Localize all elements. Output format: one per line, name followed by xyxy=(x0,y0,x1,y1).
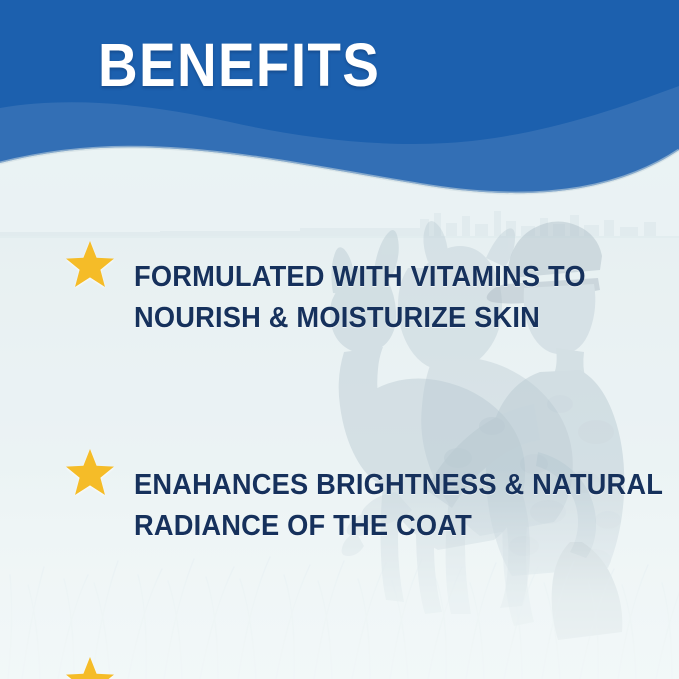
benefits-poster: BENEFITS FORMULATED WITH VITAMINS TO NOU… xyxy=(0,0,679,679)
list-item: OATMEAL CONDITIONS & SOOTHES IRRITATED S… xyxy=(0,644,679,679)
benefit-text: ENAHANCES BRIGHTNESS & NATURAL RADIANCE … xyxy=(134,465,663,547)
list-item: ENAHANCES BRIGHTNESS & NATURAL RADIANCE … xyxy=(0,436,679,576)
benefit-line-1: ENAHANCES BRIGHTNESS & NATURAL xyxy=(134,465,663,506)
star-icon xyxy=(65,656,115,679)
star-icon xyxy=(65,448,115,496)
header-band: BENEFITS xyxy=(0,0,679,200)
benefits-list: FORMULATED WITH VITAMINS TO NOURISH & MO… xyxy=(0,228,679,679)
benefit-line-1: FORMULATED WITH VITAMINS TO xyxy=(134,257,618,298)
benefit-line-2: RADIANCE OF THE COAT xyxy=(134,506,663,547)
star-icon xyxy=(65,240,115,288)
benefit-line-2: NOURISH & MOISTURIZE SKIN xyxy=(134,298,618,339)
benefit-text: OATMEAL CONDITIONS & SOOTHES IRRITATED S… xyxy=(134,673,618,679)
benefit-text: FORMULATED WITH VITAMINS TO NOURISH & MO… xyxy=(134,257,618,339)
benefit-line-1: OATMEAL CONDITIONS & SOOTHES xyxy=(134,673,618,679)
page-title: BENEFITS xyxy=(98,33,380,97)
list-item: FORMULATED WITH VITAMINS TO NOURISH & MO… xyxy=(0,228,679,368)
